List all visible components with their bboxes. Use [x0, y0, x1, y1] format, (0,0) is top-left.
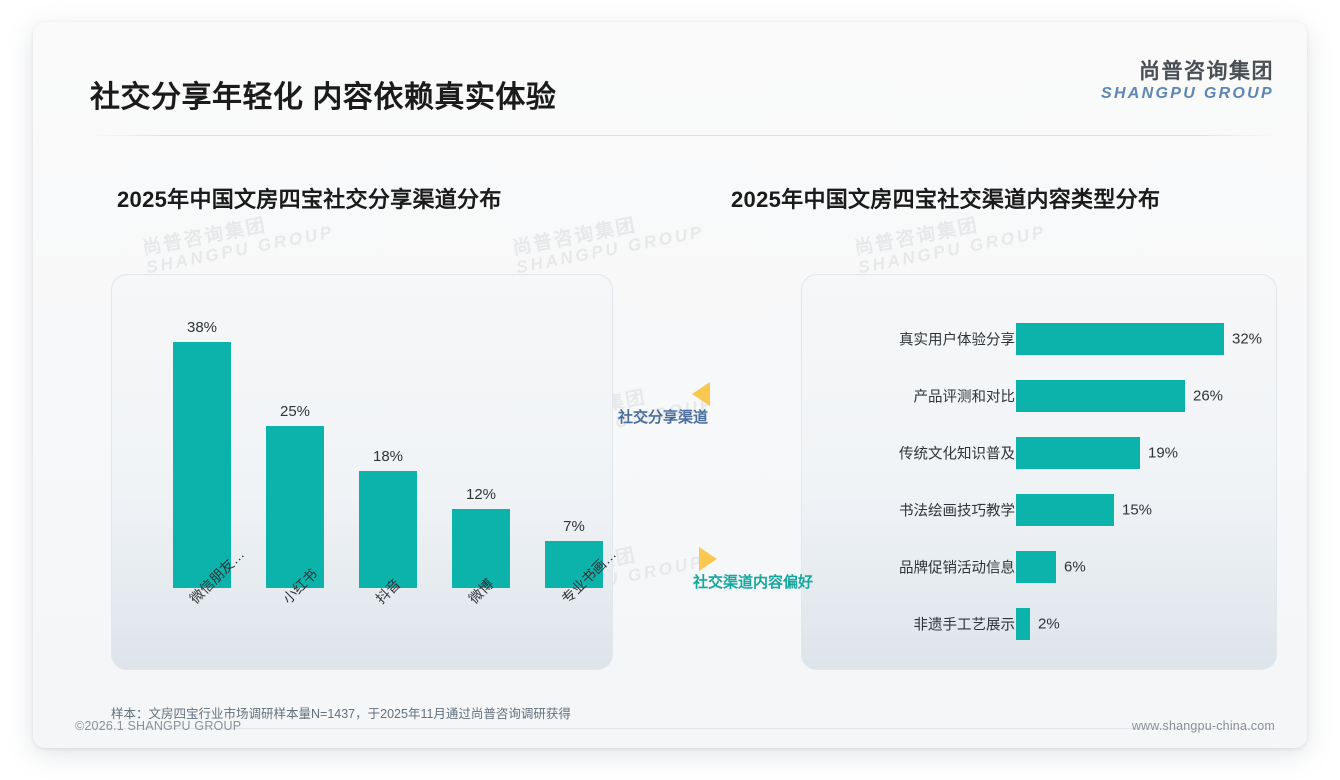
chart-title-left: 2025年中国文房四宝社交分享渠道分布: [117, 182, 502, 214]
chart-title-right: 2025年中国文房四宝社交渠道内容类型分布: [731, 182, 1160, 214]
watermark-cn: 尚普咨询集团: [511, 204, 702, 260]
brand-logo: 尚普咨询集团 SHANGPU GROUP: [1101, 60, 1274, 103]
bar-category-label: 品牌促销活动信息: [899, 557, 1015, 578]
bar-row: 非遗手工艺展示 2%: [801, 607, 1275, 641]
bar-category-label: 书法绘画技巧教学: [899, 500, 1015, 521]
bar-value-label: 2%: [1038, 616, 1060, 633]
annotation-social-channel: 社交分享渠道: [618, 382, 710, 427]
annotation-label: 社交渠道内容偏好: [693, 571, 813, 592]
bar-category-label: 产品评测和对比: [914, 386, 1016, 407]
bar-fill: [1016, 437, 1140, 469]
bar-fill: [1016, 323, 1224, 355]
column-value-label: 7%: [563, 518, 585, 535]
annotation-content-preference: 社交渠道内容偏好: [693, 547, 813, 592]
bar-value-label: 32%: [1232, 331, 1262, 348]
watermark-en: SHANGPU GROUP: [145, 223, 336, 277]
bar-category-label: 非遗手工艺展示: [914, 614, 1016, 635]
column-value-label: 12%: [466, 486, 496, 503]
logo-en-text: SHANGPU GROUP: [1101, 84, 1274, 103]
copyright-text: ©2026.1 SHANGPU GROUP: [75, 719, 241, 733]
column-chart: 38% 微信朋友… 25% 小红书 18% 抖音 12% 微博 7% 专业书画…: [111, 274, 611, 668]
page-title: 社交分享年轻化 内容依赖真实体验: [90, 72, 556, 116]
column-value-label: 18%: [373, 448, 403, 465]
bar-fill: [1016, 494, 1114, 526]
slide-card: 尚普咨询集团 SHANGPU GROUP 尚普咨询集团 SHANGPU GROU…: [33, 22, 1307, 748]
bar-value-label: 15%: [1122, 502, 1152, 519]
slide-footer: ©2026.1 SHANGPU GROUP www.shangpu-china.…: [33, 712, 1307, 746]
bar-row: 书法绘画技巧教学 15%: [801, 493, 1275, 527]
annotation-label: 社交分享渠道: [618, 406, 710, 427]
bar-row: 传统文化知识普及 19%: [801, 436, 1275, 470]
slide-header: 社交分享年轻化 内容依赖真实体验 尚普咨询集团 SHANGPU GROUP: [33, 22, 1307, 114]
logo-cn-text: 尚普咨询集团: [1101, 60, 1274, 84]
bar-fill: [1016, 608, 1030, 640]
column-bar: [359, 471, 417, 588]
bar-row: 产品评测和对比 26%: [801, 379, 1275, 413]
horizontal-bar-chart: 真实用户体验分享 32% 产品评测和对比 26% 传统文化知识普及 19% 书法…: [801, 274, 1275, 668]
bar-value-label: 6%: [1064, 559, 1086, 576]
triangle-left-icon: [692, 382, 710, 406]
website-link[interactable]: www.shangpu-china.com: [1132, 719, 1275, 733]
column-bar: [266, 426, 324, 588]
bar-value-label: 19%: [1148, 445, 1178, 462]
triangle-right-icon: [699, 547, 717, 571]
bar-value-label: 26%: [1193, 388, 1223, 405]
bar-fill: [1016, 551, 1056, 583]
bar-category-label: 真实用户体验分享: [899, 329, 1015, 350]
watermark-en: SHANGPU GROUP: [857, 223, 1048, 277]
bar-category-label: 传统文化知识普及: [899, 443, 1015, 464]
column-bar: [173, 342, 231, 588]
bar-row: 真实用户体验分享 32%: [801, 322, 1275, 356]
bar-fill: [1016, 380, 1185, 412]
bar-row: 品牌促销活动信息 6%: [801, 550, 1275, 584]
header-divider: [90, 135, 1274, 136]
watermark-en: SHANGPU GROUP: [515, 223, 706, 277]
column-value-label: 38%: [187, 319, 217, 336]
column-value-label: 25%: [280, 403, 310, 420]
